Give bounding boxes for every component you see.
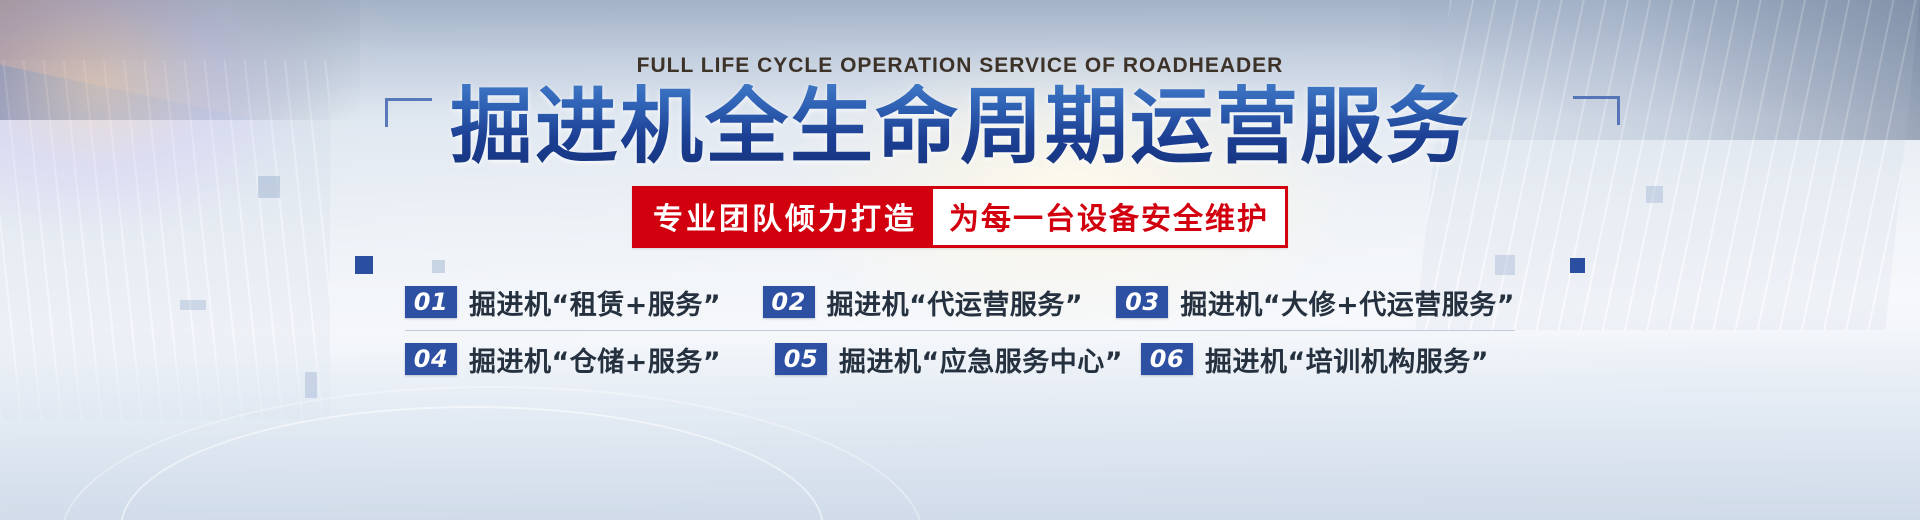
- service-label: 掘进机“大修+代运营服务”: [1180, 283, 1515, 322]
- service-number-badge: 06: [1141, 343, 1193, 375]
- slogan-secondary: 为每一台设备安全维护: [933, 189, 1285, 245]
- service-item[interactable]: 02 掘进机“代运营服务”: [763, 283, 1117, 322]
- service-number-badge: 01: [405, 286, 457, 318]
- service-item[interactable]: 05 掘进机“应急服务中心”: [775, 340, 1141, 379]
- service-item[interactable]: 06 掘进机“培训机构服务”: [1141, 340, 1489, 379]
- service-label: 掘进机“仓储+服务”: [469, 340, 721, 379]
- service-item[interactable]: 01 掘进机“租赁+服务”: [405, 283, 763, 322]
- service-number-badge: 02: [763, 286, 815, 318]
- service-label: 掘进机“应急服务中心”: [839, 340, 1123, 379]
- service-label: 掘进机“培训机构服务”: [1205, 340, 1489, 379]
- service-number-badge: 03: [1116, 286, 1168, 318]
- service-label: 掘进机“代运营服务”: [827, 283, 1084, 322]
- service-list: 01 掘进机“租赁+服务” 02 掘进机“代运营服务” 03 掘进机“大修+代运…: [405, 274, 1515, 387]
- service-label: 掘进机“租赁+服务”: [469, 283, 721, 322]
- service-number-badge: 05: [775, 343, 827, 375]
- service-row-top: 01 掘进机“租赁+服务” 02 掘进机“代运营服务” 03 掘进机“大修+代运…: [405, 274, 1515, 330]
- banner-root: FULL LIFE CYCLE OPERATION SERVICE OF ROA…: [0, 0, 1920, 520]
- service-item[interactable]: 03 掘进机“大修+代运营服务”: [1116, 283, 1515, 322]
- slogan-primary: 专业团队倾力打造: [635, 189, 933, 245]
- eyebrow-subtitle: FULL LIFE CYCLE OPERATION SERVICE OF ROA…: [637, 54, 1284, 78]
- page-title: 掘进机全生命周期运营服务: [450, 84, 1470, 170]
- slogan-bar: 专业团队倾力打造 为每一台设备安全维护: [632, 186, 1288, 248]
- banner-content: FULL LIFE CYCLE OPERATION SERVICE OF ROA…: [0, 0, 1920, 520]
- service-number-badge: 04: [405, 343, 457, 375]
- service-row-bottom: 04 掘进机“仓储+服务” 05 掘进机“应急服务中心” 06 掘进机“培训机构…: [405, 330, 1515, 387]
- service-item[interactable]: 04 掘进机“仓储+服务”: [405, 340, 775, 379]
